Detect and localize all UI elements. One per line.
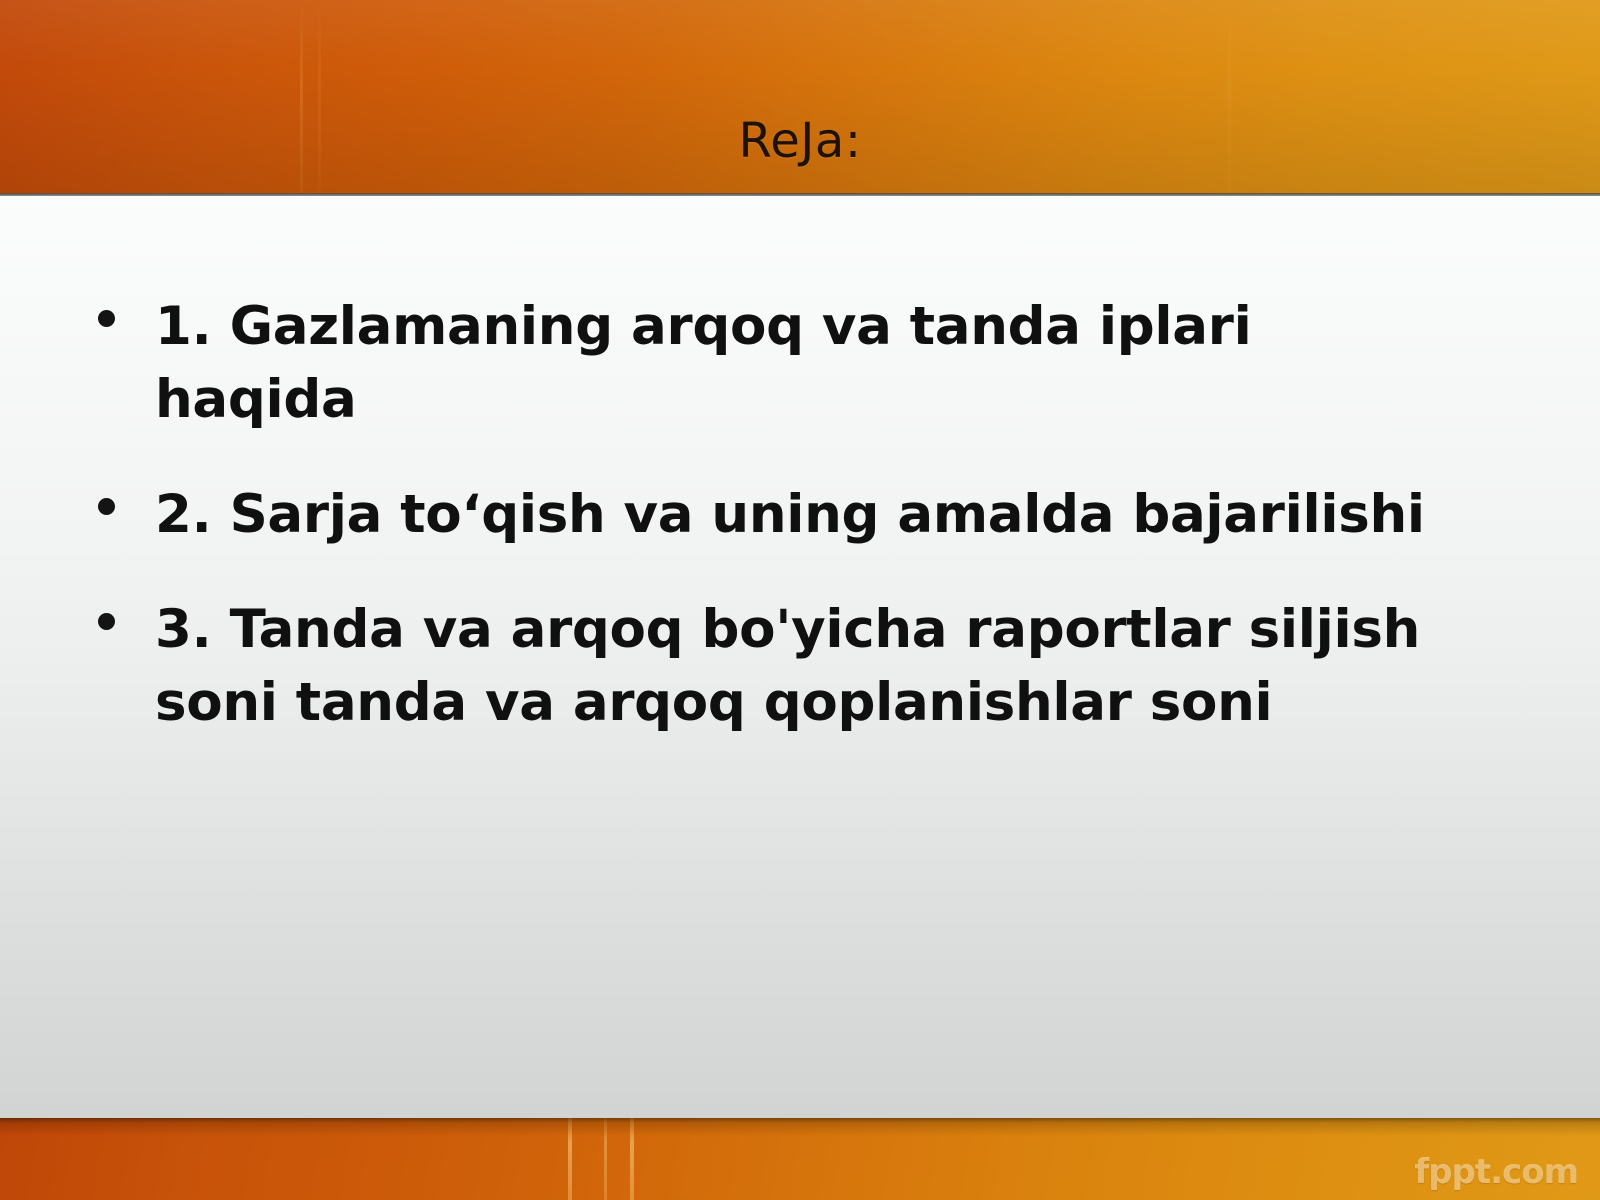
footer-stripe [568, 1118, 572, 1200]
header-stripe [300, 0, 303, 196]
list-item[interactable]: 3. Tanda va arqoq bo'yicha raportlar sil… [0, 593, 1445, 739]
bullet-item-label: 3. Tanda va arqoq bo'yicha raportlar sil… [155, 593, 1445, 739]
slide-footer-band: fppt.com [0, 1118, 1600, 1200]
bullet-dot-icon [98, 498, 115, 515]
presentation-slide: ReJa: 1. Gazlamaning arqoq va tanda ipla… [0, 0, 1600, 1200]
slide-title: ReJa: [0, 117, 1600, 165]
bullet-dot-icon [98, 613, 115, 630]
bullet-list: 1. Gazlamaning arqoq va tanda iplari haq… [0, 196, 1600, 739]
list-item[interactable]: 1. Gazlamaning arqoq va tanda iplari haq… [0, 290, 1445, 436]
watermark-label: fppt.com [1414, 1152, 1578, 1192]
bullet-item-label: 1. Gazlamaning arqoq va tanda iplari haq… [155, 290, 1445, 436]
footer-stripe [604, 1118, 607, 1200]
header-stripe [1228, 0, 1231, 196]
slide-content-area: 1. Gazlamaning arqoq va tanda iplari haq… [0, 196, 1600, 1118]
header-stripe [318, 0, 321, 196]
footer-stripe [630, 1118, 634, 1200]
bullet-dot-icon [98, 310, 115, 327]
bullet-item-label: 2. Sarja toʻqish va uning amalda bajaril… [155, 478, 1445, 551]
list-item[interactable]: 2. Sarja toʻqish va uning amalda bajaril… [0, 478, 1445, 551]
